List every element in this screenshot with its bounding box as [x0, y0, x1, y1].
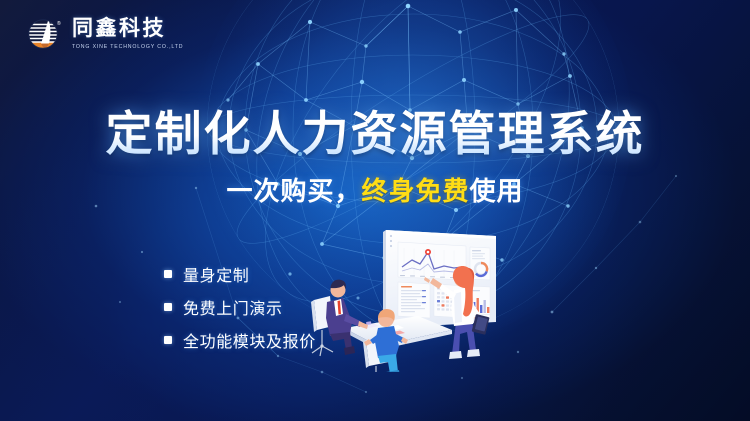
- person-seated-man-suit: [311, 280, 368, 356]
- page-title: 定制化人力资源管理系统: [0, 108, 750, 161]
- promo-banner: ® 同鑫科技 TONG XINE TECHNOLOGY CO.,LTD 定制化人…: [0, 0, 750, 421]
- svg-text:®: ®: [57, 20, 61, 27]
- list-item: 免费上门演示: [164, 295, 316, 319]
- square-bullet-icon: [164, 303, 172, 311]
- logo-company-name-cn: 同鑫科技: [72, 18, 183, 40]
- subtitle-highlight: 终身免费: [361, 176, 469, 206]
- business-team-dashboard-illustration: [300, 222, 540, 372]
- subtitle-suffix: 使用: [470, 176, 524, 206]
- logo-company-name-en: TONG XINE TECHNOLOGY CO.,LTD: [72, 44, 183, 50]
- list-item-label: 量身定制: [183, 262, 249, 286]
- subtitle: 一次购买，终身免费使用: [0, 176, 750, 207]
- subtitle-prefix: 一次购买，: [226, 176, 361, 206]
- list-item: 量身定制: [164, 262, 316, 286]
- list-item-label: 免费上门演示: [183, 295, 283, 319]
- headline-text: 定制化人力资源管理系统: [106, 108, 645, 161]
- feature-list: 量身定制 免费上门演示 全功能模块及报价: [164, 262, 316, 352]
- list-item-label: 全功能模块及报价: [183, 328, 316, 352]
- text-list-widget: [398, 282, 430, 318]
- tongxin-globe-sail-logo-icon: ®: [26, 16, 62, 52]
- square-bullet-icon: [164, 270, 172, 278]
- list-item: 全功能模块及报价: [164, 328, 316, 352]
- company-logo[interactable]: ® 同鑫科技 TONG XINE TECHNOLOGY CO.,LTD: [26, 16, 183, 52]
- square-bullet-icon: [164, 336, 172, 344]
